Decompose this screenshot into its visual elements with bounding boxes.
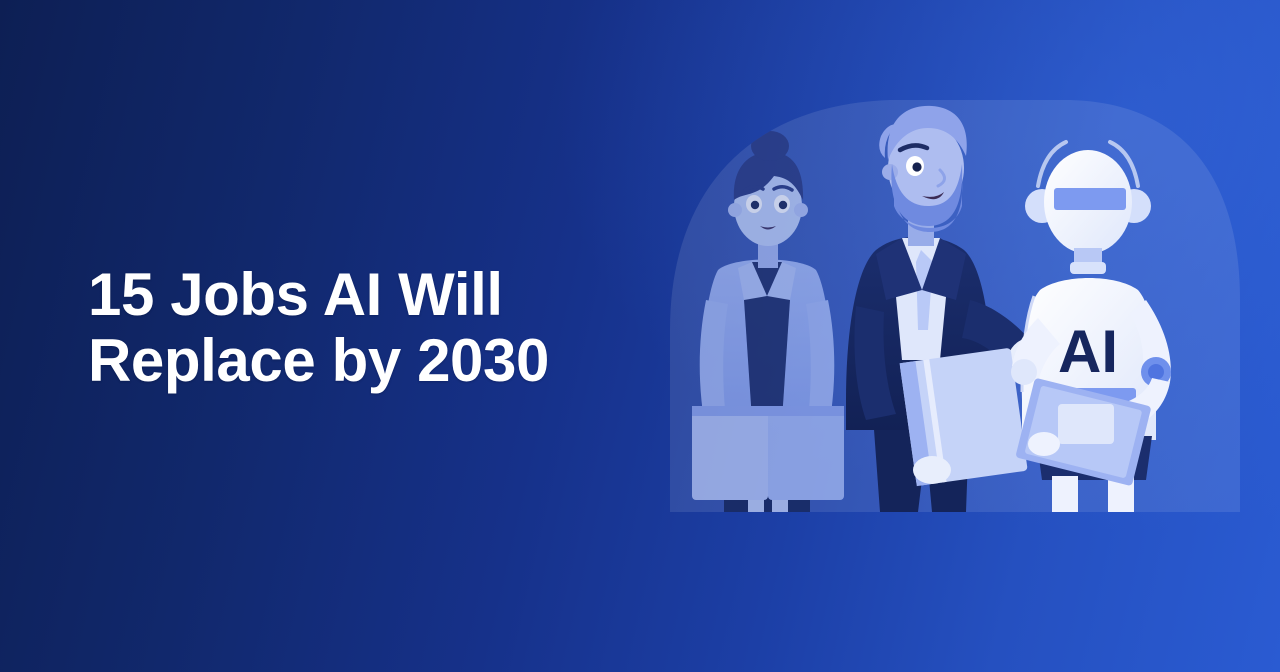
- figure-ai-robot: AI: [1011, 142, 1171, 516]
- robot-visor: [1054, 188, 1126, 210]
- page-title: 15 Jobs AI Will Replace by 2030: [88, 262, 549, 394]
- illustration: AI: [640, 0, 1280, 672]
- hero-banner: 15 Jobs AI Will Replace by 2030: [0, 0, 1280, 672]
- robot-chest-badge: AI: [1058, 318, 1118, 385]
